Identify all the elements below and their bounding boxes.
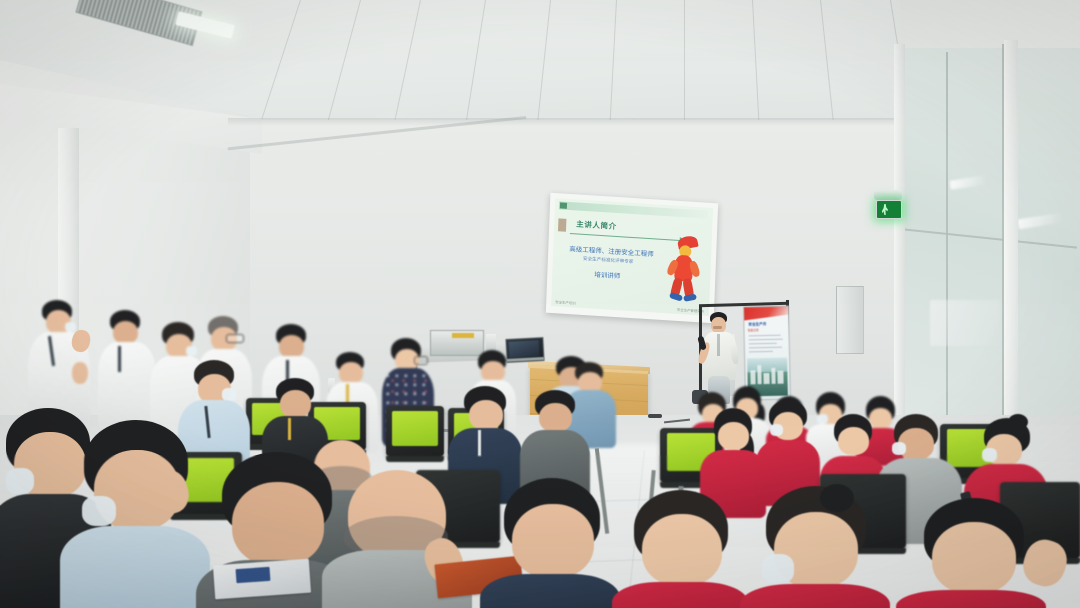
presentation-slide: 主讲人简介 高级工程师、注册安全工程师 安全生产标准化评审专家 培训讲师 安全生… (551, 198, 713, 316)
equipment-indicator (452, 333, 474, 338)
audience-person (60, 420, 210, 608)
chair[interactable] (386, 406, 444, 456)
wall-cabinet (836, 286, 864, 354)
slide-logo-icon (560, 202, 567, 208)
projection-screen: 主讲人简介 高级工程师、注册安全工程师 安全生产标准化评审专家 培训讲师 安全生… (546, 193, 718, 323)
seminar-room-photo: 主讲人简介 高级工程师、注册安全工程师 安全生产标准化评审专家 培训讲师 安全生… (0, 0, 1080, 608)
banner-subhead: 专题宣传 (747, 328, 758, 332)
slide-figure-graphic (661, 235, 710, 306)
glasses-icon (226, 334, 244, 343)
banner-headline: 安全生产月 (748, 322, 766, 327)
audience-person (612, 490, 748, 608)
slide-footer-left: 安全生产培训 (555, 299, 576, 305)
exit-sign-icon (876, 200, 902, 219)
floor-cable (648, 414, 662, 418)
slide-accent-tab (558, 218, 566, 231)
slide-title: 主讲人简介 (576, 218, 617, 232)
glass-mullion (946, 52, 948, 472)
slide-line-2: 安全生产标准化评审专家 (583, 256, 634, 265)
folder-label (236, 567, 271, 583)
audience-person (480, 478, 620, 608)
partition-post (1004, 40, 1018, 460)
banner-red-header (744, 307, 788, 321)
audience-person (740, 486, 890, 608)
audience-person (896, 498, 1046, 608)
emergency-light (874, 190, 902, 200)
glass-reflection (930, 300, 1000, 346)
wall-ceiling-junction (228, 118, 928, 126)
slide-line-1: 高级工程师、注册安全工程师 (569, 243, 654, 258)
slide-line-3: 培训讲师 (594, 269, 620, 281)
